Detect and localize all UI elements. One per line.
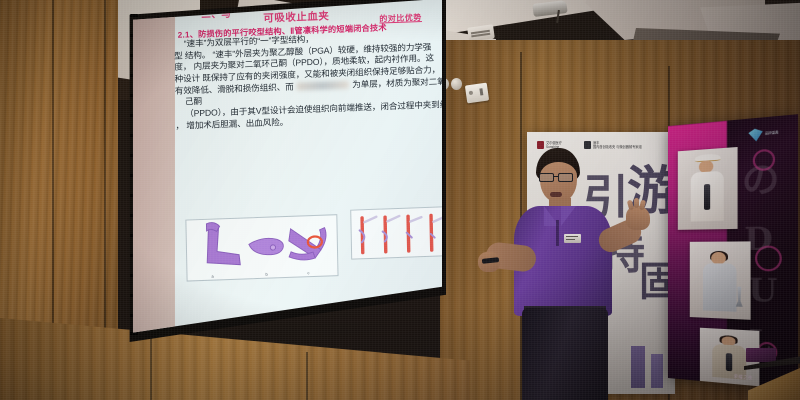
presenter-collar xyxy=(540,206,580,230)
clip-geometry-svg: a b c xyxy=(186,215,339,282)
wall-lower-wood-band xyxy=(0,318,470,400)
banner-logo-text: 品牌盛典 xyxy=(765,131,779,136)
celebrity-photo-middle xyxy=(690,241,751,319)
presenter-trousers xyxy=(522,308,608,400)
slide-body-text: “速丰”为双层平行的“一”字型结构， 型 结构。 “速丰”外层夹为聚乙醇酸（PG… xyxy=(174,30,442,133)
suture-sequence-svg xyxy=(351,207,442,260)
diamond-logo-icon xyxy=(748,128,762,142)
banner-glyph-3: U xyxy=(748,275,777,308)
celebrity-photo-top xyxy=(678,147,738,230)
presenter-mouth xyxy=(550,192,562,197)
banner-brand-logo: 品牌盛典 xyxy=(748,124,788,144)
projection-screen-surface: 二、与 可吸收止血夹 的对比优势 2.1、防损伤的平行咬型结构、Ⅱ管凛科学的短端… xyxy=(133,0,442,336)
presenter-right-hand xyxy=(626,206,650,230)
wall-mounted-controller xyxy=(465,83,489,104)
slide-body-line-post: 为单层，材质为聚对二氧环 xyxy=(352,76,442,90)
clip-geometry-diagram: a b c xyxy=(185,214,338,281)
redaction-blur xyxy=(297,81,349,91)
roll-up-banner: の D U L 品牌盛典 荣耀之夜 xyxy=(668,114,798,390)
name-badge xyxy=(564,234,581,243)
eyeglasses-icon xyxy=(539,173,579,182)
presentation-slide: 二、与 可吸收止血夹 的对比优势 2.1、防损伤的平行咬型结构、Ⅱ管凛科学的短端… xyxy=(171,0,442,328)
purple-folder xyxy=(746,348,776,362)
presenter xyxy=(478,148,668,400)
svg-text:a: a xyxy=(211,274,214,279)
suture-sequence-diagram xyxy=(350,206,442,259)
presentation-photo-scene: 二、与 可吸收止血夹 的对比优势 2.1、防损伤的平行咬型结构、Ⅱ管凛科学的短端… xyxy=(0,0,800,400)
presenter-shirt-placket xyxy=(556,220,559,246)
projector-body xyxy=(532,0,567,17)
screen-offscreen-band xyxy=(133,0,175,336)
svg-text:b: b xyxy=(265,272,268,277)
ceiling-projector xyxy=(533,2,573,24)
svg-text:c: c xyxy=(307,270,309,275)
projector-mount xyxy=(556,10,560,23)
